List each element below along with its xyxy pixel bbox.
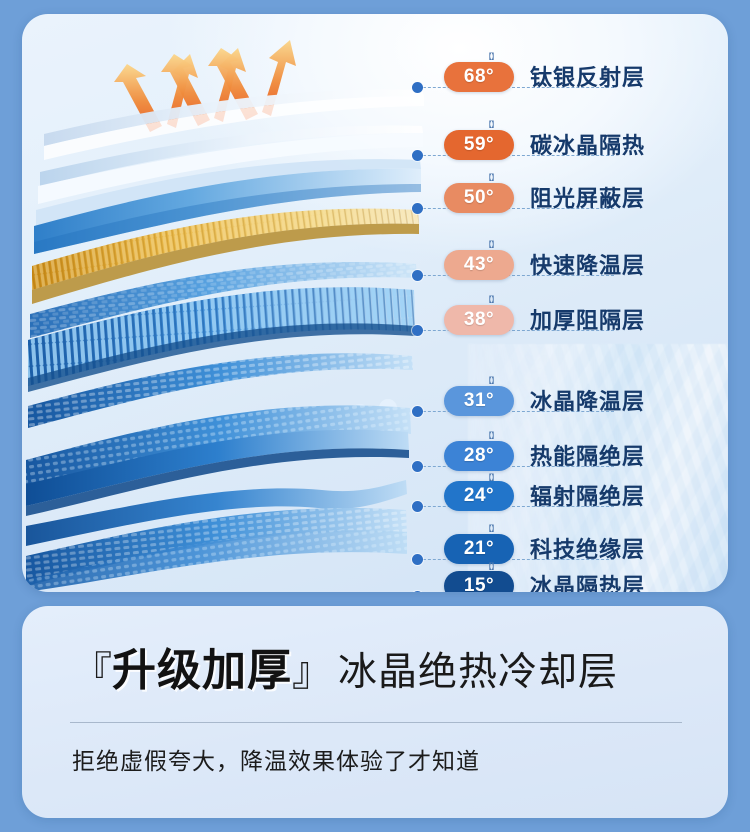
connector-dot bbox=[412, 501, 423, 512]
connector-dot bbox=[412, 461, 423, 472]
connector-dot bbox=[412, 150, 423, 161]
temperature-badge: 28° bbox=[444, 441, 514, 471]
temperature-badge: 31° bbox=[444, 386, 514, 416]
quote-open-mark: 『 bbox=[72, 639, 112, 697]
superscript-mark: 【】 bbox=[484, 430, 498, 441]
superscript-mark: 【】 bbox=[484, 119, 498, 130]
temperature-badge: 43° bbox=[444, 250, 514, 280]
footer-title: 『 升级加厚 』 冰晶绝热冷却层 bbox=[72, 634, 618, 698]
temperature-badge: 15° bbox=[444, 571, 514, 592]
superscript-mark: 【】 bbox=[484, 239, 498, 250]
layer-label: 阻光屏蔽层 bbox=[530, 181, 645, 213]
temperature-badge: 21° bbox=[444, 534, 514, 564]
connector-dot bbox=[412, 82, 423, 93]
legend-row: 【】 38° 加厚阻隔层 bbox=[412, 297, 728, 343]
superscript-mark: 【】 bbox=[484, 523, 498, 534]
superscript-mark: 【】 bbox=[484, 375, 498, 386]
footer-subtitle: 拒绝虚假夸大，降温效果体验了才知道 bbox=[72, 742, 480, 776]
temperature-legend: 【】 68° 钛银反射层 【】 59° 碳冰晶隔热 【】 50° 阻光屏蔽层 【… bbox=[412, 14, 728, 592]
superscript-mark: 【】 bbox=[484, 294, 498, 305]
layer-label: 冰晶降温层 bbox=[530, 384, 645, 416]
footer-card: 『 升级加厚 』 冰晶绝热冷却层 拒绝虚假夸大，降温效果体验了才知道 bbox=[22, 606, 728, 818]
superscript-mark: 【】 bbox=[484, 172, 498, 183]
temperature-badge: 38° bbox=[444, 305, 514, 335]
layer-label: 碳冰晶隔热 bbox=[530, 128, 645, 160]
connector-dot bbox=[412, 406, 423, 417]
layer-label: 加厚阻隔层 bbox=[530, 303, 645, 335]
temperature-badge: 50° bbox=[444, 183, 514, 213]
layer-label: 快速降温层 bbox=[530, 248, 645, 280]
quote-close-mark: 』 bbox=[292, 639, 332, 697]
footer-title-strong: 升级加厚 bbox=[112, 634, 292, 698]
legend-row: 【】 31° 冰晶降温层 bbox=[412, 378, 728, 424]
footer-title-rest: 冰晶绝热冷却层 bbox=[338, 641, 618, 697]
temperature-badge: 59° bbox=[444, 130, 514, 160]
temperature-badge: 68° bbox=[444, 62, 514, 92]
layer-label: 冰晶隔热层 bbox=[530, 569, 645, 592]
legend-row: 【】 15° 冰晶隔热层 bbox=[412, 563, 728, 592]
layer-label: 辐射隔绝层 bbox=[530, 479, 645, 511]
connector-dot bbox=[412, 591, 423, 592]
hero-card: 【】 68° 钛银反射层 【】 59° 碳冰晶隔热 【】 50° 阻光屏蔽层 【… bbox=[22, 14, 728, 592]
fabric-layers-illustration bbox=[22, 14, 442, 592]
temperature-badge: 24° bbox=[444, 481, 514, 511]
legend-row: 【】 68° 钛银反射层 bbox=[412, 54, 728, 100]
connector-dot bbox=[412, 325, 423, 336]
legend-row: 【】 59° 碳冰晶隔热 bbox=[412, 122, 728, 168]
footer-divider bbox=[70, 722, 682, 723]
legend-row: 【】 24° 辐射隔绝层 bbox=[412, 473, 728, 519]
connector-dot bbox=[412, 270, 423, 281]
layer-label: 钛银反射层 bbox=[530, 60, 645, 92]
layer-label: 科技绝缘层 bbox=[530, 532, 645, 564]
layer-label: 热能隔绝层 bbox=[530, 439, 645, 471]
legend-row: 【】 43° 快速降温层 bbox=[412, 242, 728, 288]
connector-dot bbox=[412, 203, 423, 214]
legend-row: 【】 50° 阻光屏蔽层 bbox=[412, 175, 728, 221]
superscript-mark: 【】 bbox=[484, 51, 498, 62]
